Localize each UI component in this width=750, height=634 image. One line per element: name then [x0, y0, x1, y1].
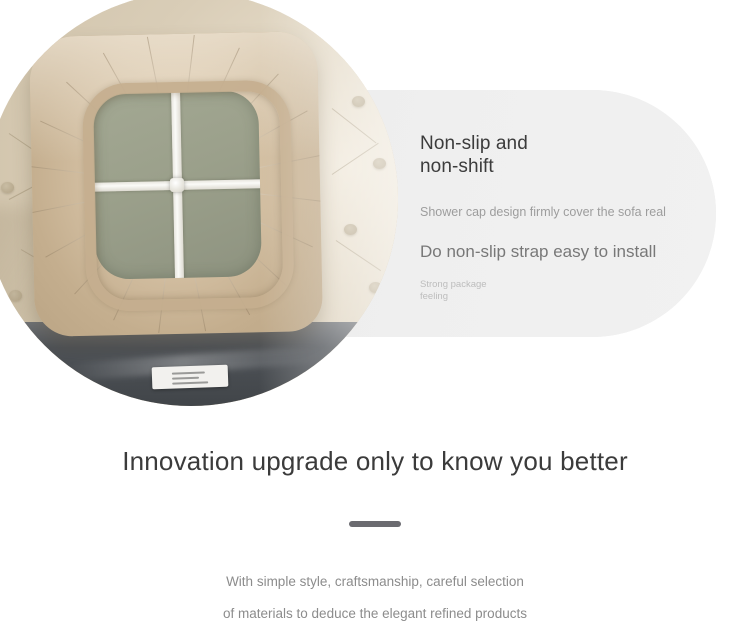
- product-label-tag: [152, 365, 229, 390]
- elastic-gathered-rim: [82, 80, 295, 312]
- feature-copy-block: Non-slip and non-shift Shower cap design…: [420, 132, 710, 302]
- feature-subtext: Shower cap design firmly cover the sofa …: [420, 204, 710, 220]
- bottom-subcopy-line-2: of materials to deduce the elegant refin…: [0, 598, 750, 630]
- feature-secondary-line: Do non-slip strap easy to install: [420, 241, 710, 263]
- bottom-tagline: Innovation upgrade only to know you bett…: [0, 444, 750, 478]
- section-divider: [349, 521, 401, 527]
- product-photo-circle: [0, 0, 398, 406]
- bottom-subcopy-line-1: With simple style, craftsmanship, carefu…: [0, 566, 750, 598]
- stretch-cushion-cover: [29, 31, 323, 337]
- feature-heading: Non-slip and non-shift: [420, 132, 710, 178]
- feature-note: Strong package feeling: [420, 279, 710, 302]
- floor-surface: [0, 322, 398, 406]
- bottom-subcopy: With simple style, craftsmanship, carefu…: [0, 566, 750, 630]
- product-feature-page: Non-slip and non-shift Shower cap design…: [0, 0, 750, 634]
- product-photo-inner: [0, 0, 398, 406]
